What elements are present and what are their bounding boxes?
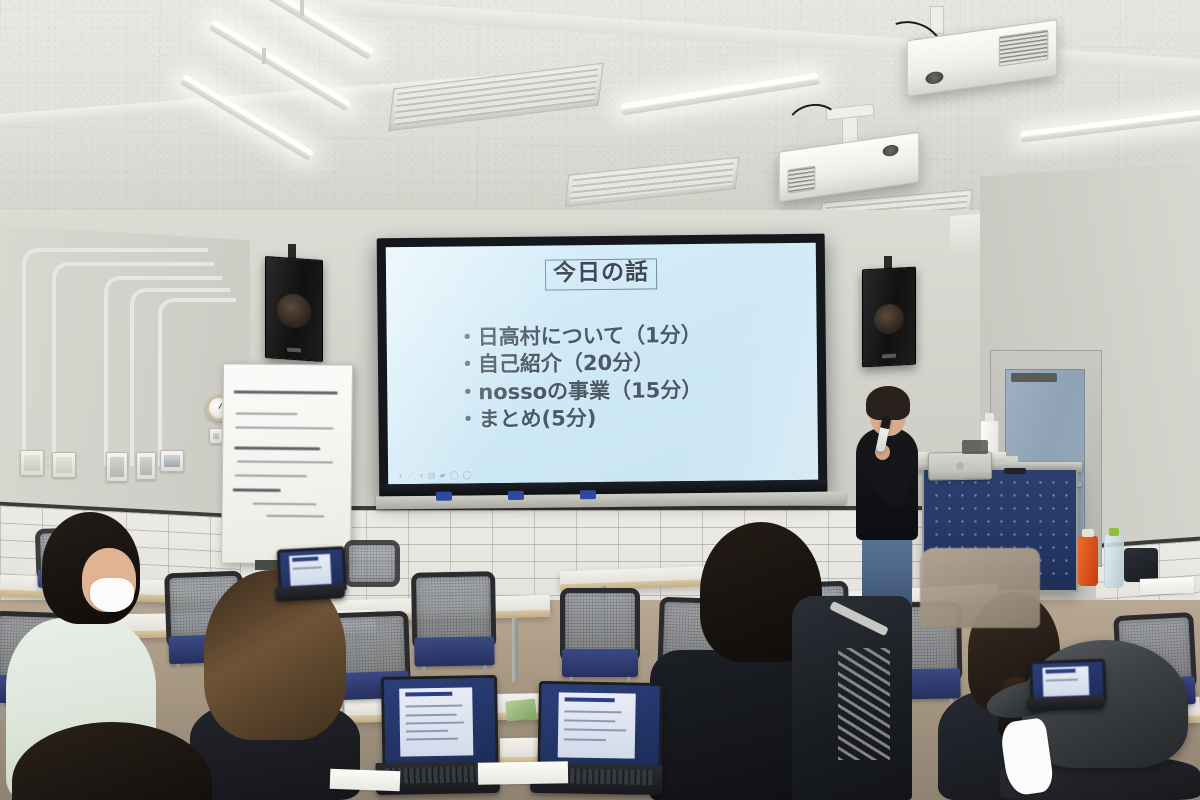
side-laptop[interactable] xyxy=(1029,659,1101,711)
screen-icon[interactable]: ▥ xyxy=(428,472,436,480)
prev-icon[interactable]: ◗ xyxy=(398,472,403,480)
slide-bullet-list: 日高村について（1分） 自己紹介（20分） nossoの事業（15分） まとめ(… xyxy=(417,321,806,434)
table-leg xyxy=(512,618,518,682)
side-laptop[interactable] xyxy=(277,546,342,601)
remote-control[interactable] xyxy=(1004,468,1026,474)
handwriting-line xyxy=(235,426,333,429)
pencil-case xyxy=(1124,548,1158,582)
papers xyxy=(1140,577,1195,595)
projection-screen: 今日の話 日高村について（1分） 自己紹介（20分） nossoの事業（15分）… xyxy=(377,234,828,497)
options-icon[interactable]: ◯ xyxy=(450,472,459,480)
wall-switch-plate[interactable] xyxy=(20,450,44,476)
bottle-cap xyxy=(1082,529,1093,537)
speaker-bracket xyxy=(288,244,296,258)
presenter-laptop[interactable] xyxy=(928,451,992,480)
jacket-pattern xyxy=(838,648,890,760)
document-window xyxy=(400,687,474,756)
classroom-chair[interactable] xyxy=(411,571,497,684)
wall-speaker-left xyxy=(265,256,323,362)
projector-lens xyxy=(883,144,899,157)
light-stem xyxy=(300,0,304,16)
classroom-chair[interactable] xyxy=(344,540,400,602)
magnet xyxy=(508,491,524,500)
jacket xyxy=(920,548,1040,628)
green-booklet xyxy=(505,698,537,721)
laptop-screen xyxy=(384,678,496,767)
classroom-chair[interactable] xyxy=(560,588,640,694)
laptop-lid xyxy=(381,675,499,770)
handwriting-line xyxy=(234,390,338,394)
classroom-scene: 今日の話 日高村について（1分） 自己紹介（20分） nossoの事業（15分）… xyxy=(0,0,1200,800)
slide-bullet-item: 日高村について（1分） xyxy=(457,321,805,352)
speaker-brand-badge xyxy=(882,354,896,359)
slide-bullet-item: nossoの事業（15分） xyxy=(457,375,805,406)
handwriting-line xyxy=(233,488,281,492)
bottle-cap xyxy=(1109,528,1119,536)
orange-drink-bottle xyxy=(1078,536,1098,586)
wall-outlet[interactable] xyxy=(209,428,223,444)
marker-icon[interactable]: ▰ xyxy=(439,472,445,480)
wall-switch-plate[interactable] xyxy=(136,452,156,480)
document-window xyxy=(289,554,331,586)
pen-icon[interactable]: ／ xyxy=(407,472,415,480)
presenter-glasses xyxy=(874,404,902,412)
face-mask xyxy=(90,578,134,612)
handwriting-line xyxy=(234,446,320,450)
wall-switch-plate[interactable] xyxy=(52,452,76,478)
laptop-lid xyxy=(537,681,663,772)
wall-control-panel[interactable] xyxy=(160,450,184,472)
presenter-hair xyxy=(866,386,910,420)
pointer-icon[interactable]: ◖ xyxy=(419,472,424,480)
projector-lens xyxy=(926,70,944,85)
notebook xyxy=(330,769,401,791)
flipchart-whiteboard xyxy=(221,363,353,564)
more-icon[interactable]: ◯ xyxy=(462,471,471,479)
magnet xyxy=(436,492,452,501)
laptop-base xyxy=(1026,695,1105,711)
notebook xyxy=(478,761,568,785)
handwriting-line xyxy=(235,474,307,476)
light-stem xyxy=(262,48,266,64)
document-window xyxy=(557,693,636,759)
laptop-screen xyxy=(540,684,659,769)
handwriting-line xyxy=(266,515,324,517)
wall-switch-plate[interactable] xyxy=(106,452,128,482)
slide-title-text: 今日の話 xyxy=(545,258,657,290)
door-closer xyxy=(1011,373,1057,382)
slide-bullet-item: 自己紹介（20分） xyxy=(457,348,805,379)
slide-surface: 今日の話 日高村について（1分） 自己紹介（20分） nossoの事業（15分）… xyxy=(386,243,818,484)
desk-items xyxy=(962,440,988,454)
projector-vent-grill xyxy=(999,29,1049,66)
speaker-brand-badge xyxy=(287,348,301,353)
slide-bullet-item: まとめ(5分) xyxy=(457,403,805,434)
slide-title: 今日の話 xyxy=(386,257,816,293)
clear-water-bottle xyxy=(1104,534,1124,588)
presentation-toolbar[interactable]: ◗ ／ ◖ ▥ ▰ ◯ ◯ xyxy=(398,471,471,480)
handwriting-line xyxy=(236,412,298,415)
handwriting-line xyxy=(253,503,317,505)
document-window xyxy=(1042,666,1089,696)
handwriting-line xyxy=(237,460,333,463)
magnet xyxy=(580,490,596,499)
wall-speaker-right xyxy=(862,267,916,368)
speaker-cone xyxy=(277,293,311,329)
projector-vent-grill xyxy=(788,166,816,194)
speaker-cone xyxy=(874,303,904,335)
